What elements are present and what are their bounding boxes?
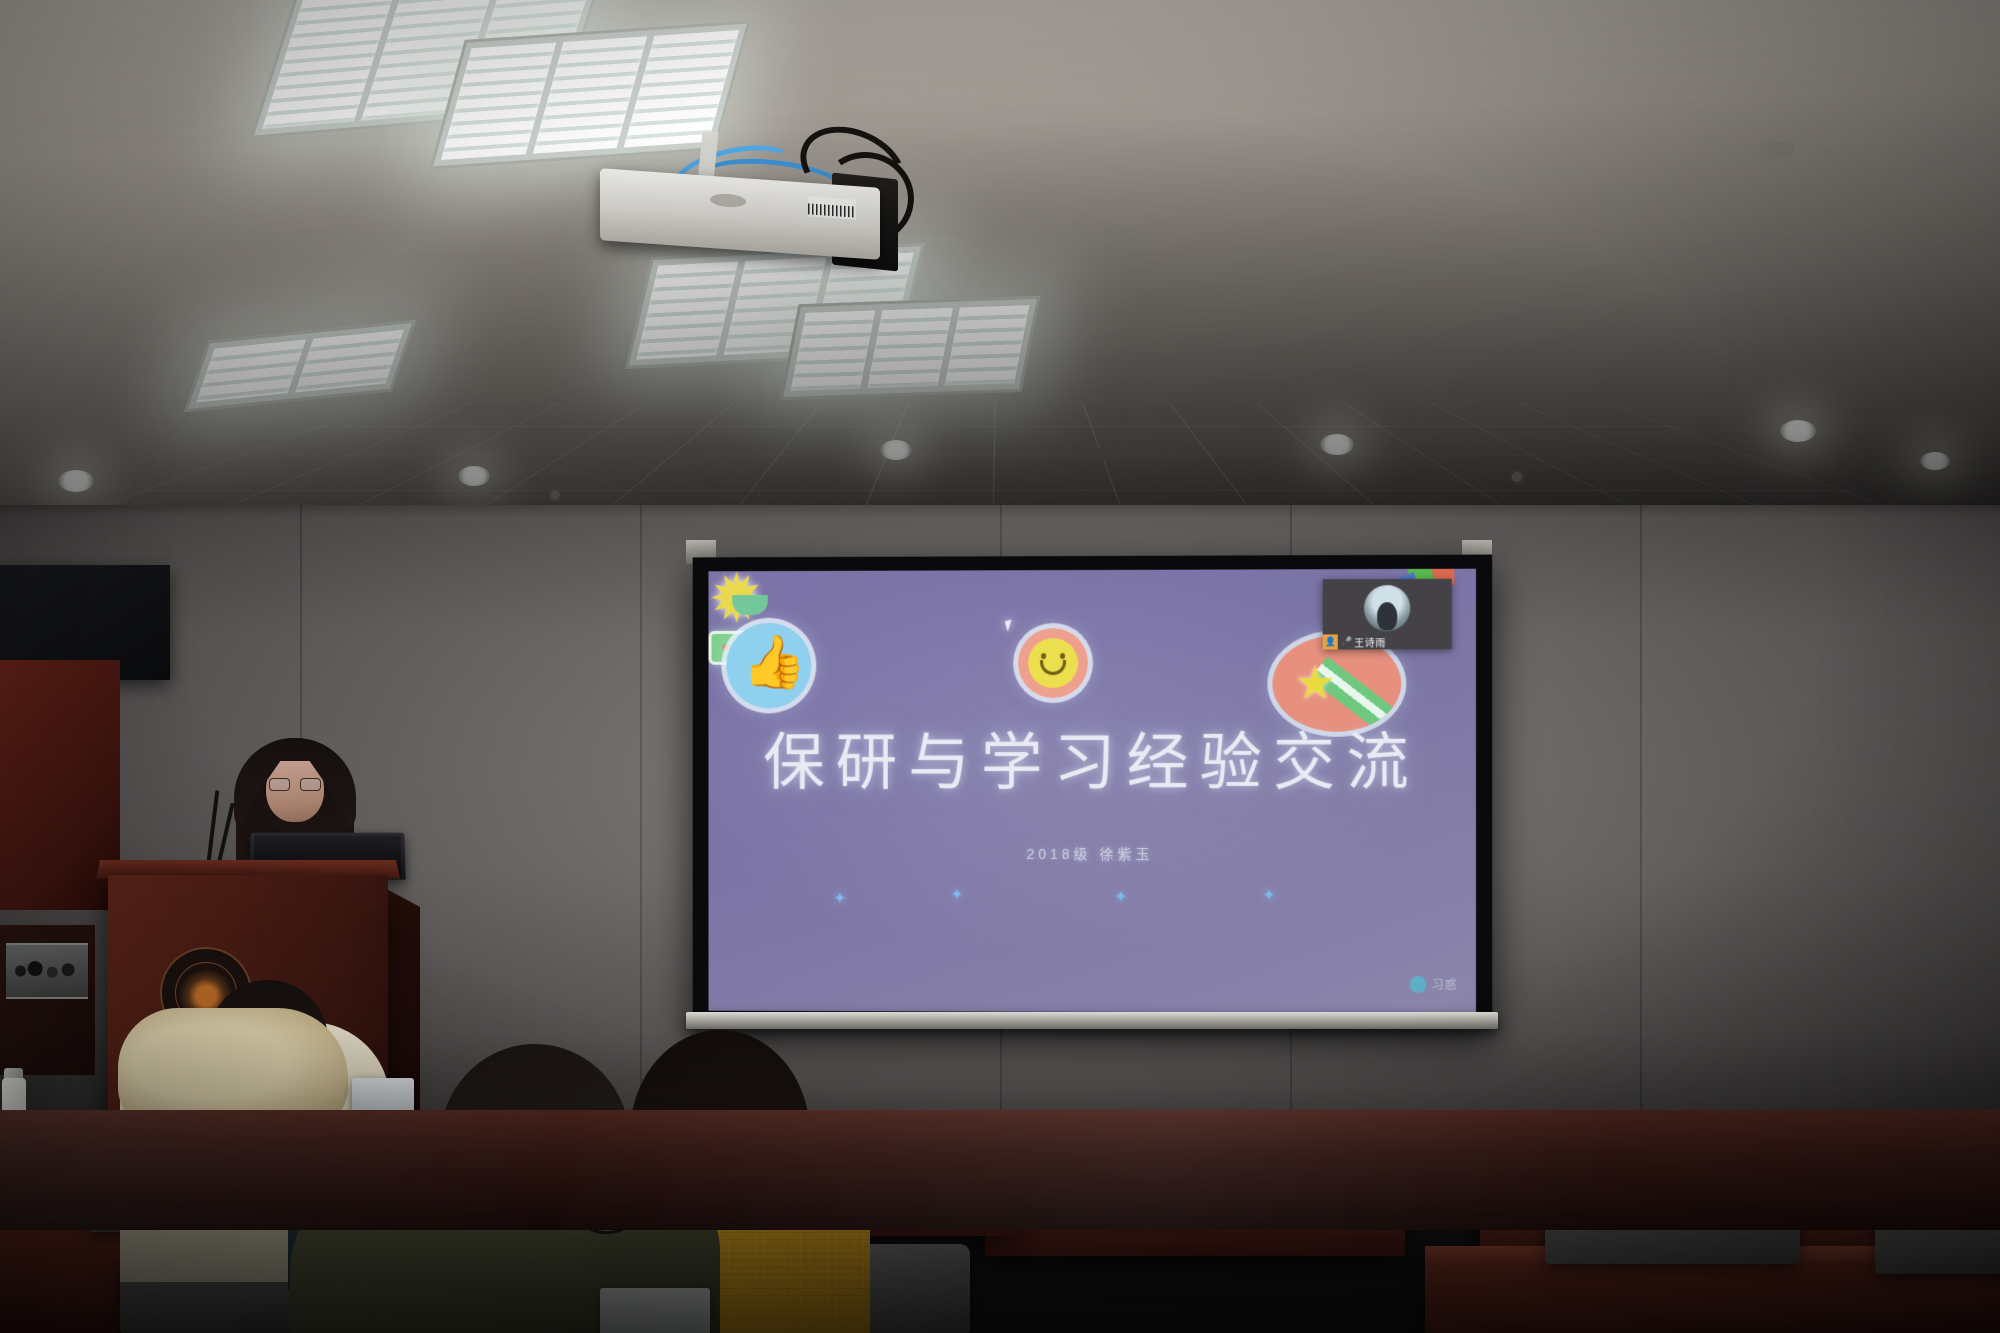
sunburst-icon: ✹ (708, 571, 791, 631)
ceiling (0, 0, 2000, 560)
equipment-panel (6, 943, 88, 999)
av-equipment-rack (0, 925, 95, 1075)
slide-title: 保研与学习经验交流 (708, 712, 1476, 803)
ceiling-shading (0, 0, 2000, 560)
wainscot-sheen (0, 1110, 2000, 1230)
projection-screen: 👍 ★ ✹ ♥ ♥ ♥ ✦ ✦ ✦ ✦ (693, 555, 1492, 1028)
presenter-glasses-icon (269, 778, 321, 789)
sparkle-icon: ✦ (950, 888, 963, 904)
screen-roller-bar[interactable] (686, 1012, 1498, 1029)
video-conference-tile[interactable]: 👤 🎤 王诗雨 (1323, 579, 1452, 650)
logo-dot-icon (1409, 976, 1426, 993)
laptop-device[interactable] (600, 1288, 710, 1333)
microphone-icon: 🎤 (1341, 636, 1352, 647)
wall-wainscot (0, 1110, 2000, 1230)
sparkle-icon: ✦ (1114, 890, 1127, 906)
presentation-slide: 👍 ★ ✹ ♥ ♥ ♥ ✦ ✦ ✦ ✦ (708, 569, 1476, 1014)
participant-name: 王诗雨 (1354, 634, 1386, 649)
slide-subtitle: 2018级 徐紫玉 (708, 844, 1476, 865)
slide-watermark-logo: 习惑 (1409, 976, 1457, 993)
participant-name-bar: 👤 🎤 王诗雨 (1323, 634, 1386, 649)
lecture-hall-scene: 👍 ★ ✹ ♥ ♥ ♥ ✦ ✦ ✦ ✦ (0, 0, 2000, 1333)
participant-badge-icon: 👤 (1323, 634, 1338, 649)
participant-avatar (1364, 585, 1410, 631)
sparkle-icon: ✦ (833, 892, 846, 908)
sunburst-core (732, 595, 768, 615)
sparkle-icon: ✦ (1262, 888, 1275, 904)
logo-text: 习惑 (1432, 976, 1458, 993)
